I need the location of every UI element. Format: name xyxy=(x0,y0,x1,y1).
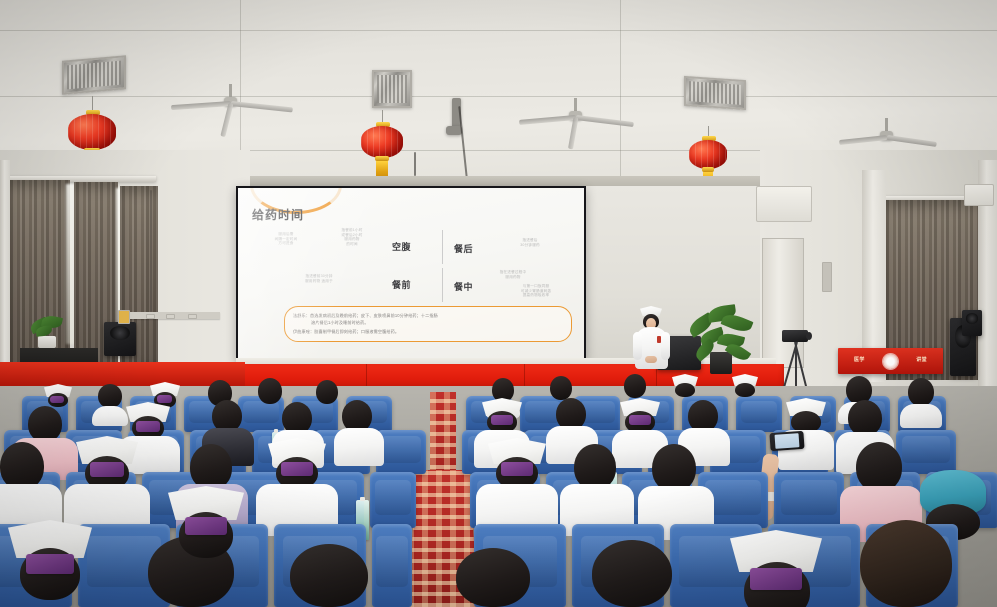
slide-divider xyxy=(442,230,443,264)
presenter-arm xyxy=(633,332,642,360)
hair-bow xyxy=(90,462,124,477)
phone-screen xyxy=(775,433,800,449)
slide-note-box: 法舒乐：首选发病初后及晚前给药；皮下、皮肤喷鼻前10分钟给药；十二指肠 溶片餐后… xyxy=(284,306,572,342)
uniform xyxy=(334,428,384,466)
event-banner: 医学 讲堂 xyxy=(838,348,943,374)
head xyxy=(908,378,934,406)
seat[interactable] xyxy=(372,524,412,607)
head xyxy=(856,442,902,492)
slide-blurb: 与第一口饭同服 可减少胃肠道刺激 提高药物吸收率 xyxy=(494,284,578,298)
head xyxy=(735,383,755,397)
head xyxy=(848,400,882,436)
slide-blurb: 指在进餐过程中 服用药物 xyxy=(490,270,536,279)
uniform xyxy=(92,406,128,426)
slide-keyword-kongfu: 空腹 xyxy=(392,240,411,253)
slide-keyword-canqian: 餐前 xyxy=(392,278,411,291)
head xyxy=(652,444,696,492)
slide-content-columns: 服用后需 间隔一定时间 方可进食 指餐前1小时 或餐后2小时 服用药物 的时间 … xyxy=(246,228,580,312)
seat[interactable] xyxy=(736,396,782,432)
head xyxy=(28,406,62,442)
hair-bow xyxy=(281,462,313,476)
hair-bow xyxy=(501,462,533,476)
wall-outlet-icon xyxy=(166,314,175,319)
wall-outlet-icon xyxy=(146,314,155,319)
wall-sign xyxy=(822,262,832,292)
head xyxy=(860,520,952,607)
slide-blurb: 服用后需 间隔一定时间 方可进食 xyxy=(256,232,316,246)
hair-bow xyxy=(629,415,651,425)
head xyxy=(98,384,122,408)
slide-surface: 给药时间 服用后需 间隔一定时间 方可进食 指餐前1小时 或餐后2小时 服用药物… xyxy=(238,188,584,359)
seat[interactable] xyxy=(896,430,956,474)
slide-blurb: 指餐前1小时 或餐后2小时 服用药物 的时间 xyxy=(320,228,384,246)
seat[interactable] xyxy=(774,472,844,528)
presenter-arm xyxy=(661,332,670,360)
head xyxy=(550,376,572,400)
wall-speaker-icon xyxy=(962,310,982,336)
head xyxy=(592,540,672,607)
hair-bow xyxy=(185,517,227,535)
head xyxy=(316,380,338,404)
slide-divider xyxy=(442,268,443,302)
presenter-badge xyxy=(657,336,661,343)
wall-pillar xyxy=(0,160,10,375)
slide-blurb: 指进餐前30分钟 服用药物 适用于 xyxy=(254,274,384,283)
banner-left-text: 医学 xyxy=(854,356,865,363)
presenter-hand xyxy=(645,356,657,363)
ac-unit-icon xyxy=(756,186,812,222)
smartphone-icon[interactable] xyxy=(769,431,804,451)
ceiling-cable xyxy=(414,152,416,176)
slide-keyword-canzhong: 餐中 xyxy=(454,280,473,293)
slide-note-line-1: 法舒乐：首选发病初后及晚前给药；皮下、皮肤喷鼻前10分钟给药；十二指肠 xyxy=(293,313,438,318)
lecture-hall-photo: 给药时间 服用后需 间隔一定时间 方可进食 指餐前1小时 或餐后2小时 服用药物… xyxy=(0,0,997,607)
head xyxy=(675,383,695,397)
hair-bow xyxy=(491,415,513,425)
banner-right-text: 讲堂 xyxy=(916,356,927,363)
slide-keyword-canhou: 餐后 xyxy=(454,242,473,255)
uniform xyxy=(900,404,942,428)
seat[interactable] xyxy=(370,472,416,528)
hair-bow xyxy=(50,396,64,403)
wall-outlet-icon xyxy=(188,314,197,319)
ceiling-vent-icon xyxy=(62,55,126,95)
head xyxy=(0,442,44,490)
head xyxy=(456,548,530,607)
hair-bow xyxy=(750,568,802,590)
hair-bow xyxy=(136,421,160,432)
banner-emblem-icon xyxy=(883,354,898,369)
ac-unit-icon xyxy=(964,184,994,206)
slide-note-line-3: 伊曲康唑：胶囊制甲餐后即刻给药；口服液需空腹给药。 xyxy=(293,329,399,334)
head xyxy=(258,378,282,404)
ceiling-vent-icon xyxy=(372,70,412,108)
video-camera-icon xyxy=(782,330,808,342)
wall-speaker-icon xyxy=(104,322,136,356)
wall-cable xyxy=(150,190,152,312)
slide-title: 给药时间 xyxy=(252,206,304,223)
stage-plant-pot xyxy=(710,352,732,374)
slide-note-line-2: 溶片餐后1小时及睡前时给药。 xyxy=(311,320,369,325)
projection-screen: 给药时间 服用后需 间隔一定时间 方可进食 指餐前1小时 或餐后2小时 服用药物… xyxy=(236,186,586,361)
plant-pot xyxy=(38,336,56,348)
hair-bow xyxy=(26,554,74,574)
head xyxy=(624,374,646,398)
wall-box-icon xyxy=(118,310,130,324)
head xyxy=(290,544,368,607)
slide-blurb: 指进餐后 30分钟服药 xyxy=(492,238,568,247)
hair-bow xyxy=(157,395,172,403)
ceiling-vent-icon xyxy=(684,76,746,110)
